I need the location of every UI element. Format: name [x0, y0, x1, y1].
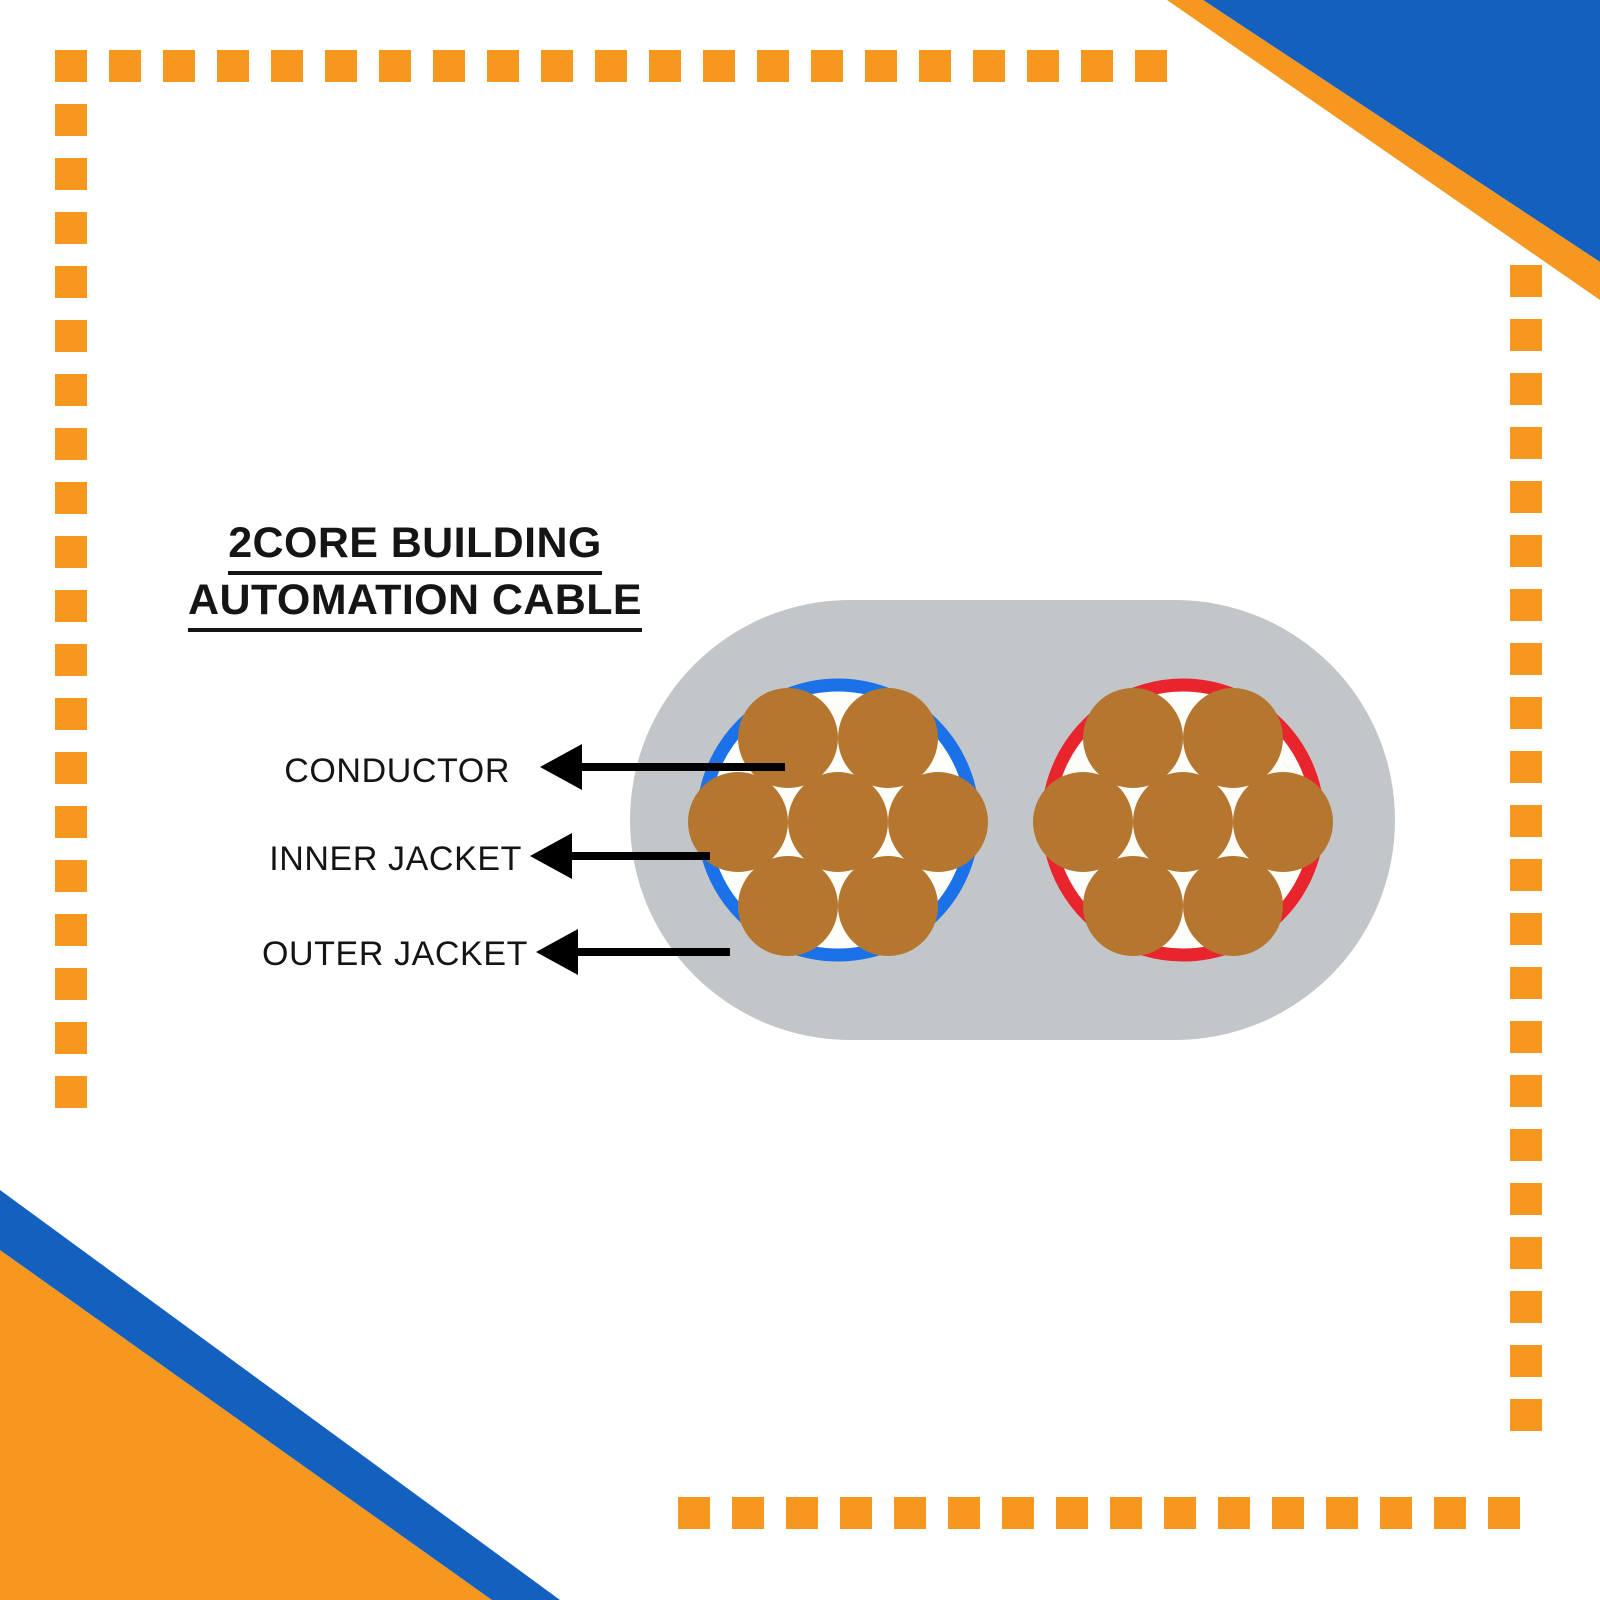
border-dash [1510, 1183, 1542, 1215]
border-dash [1027, 50, 1059, 82]
bottom-left-blue-stripe [0, 1190, 560, 1600]
border-dash [1510, 589, 1542, 621]
border-dash [1510, 481, 1542, 513]
border-dash [1510, 805, 1542, 837]
cable-cross-section-diagram [480, 560, 1440, 1080]
border-dash [1510, 1345, 1542, 1377]
border-dash [55, 644, 87, 676]
border-dash [325, 50, 357, 82]
border-dash [1002, 1497, 1034, 1529]
border-dash [1510, 373, 1542, 405]
border-dash [379, 50, 411, 82]
conductor-strand [1233, 772, 1333, 872]
border-dash [1510, 697, 1542, 729]
top-right-blue-triangle [1203, 0, 1600, 262]
border-dash [1135, 50, 1167, 82]
border-dash [163, 50, 195, 82]
conductor-strand [1083, 688, 1183, 788]
border-dash [55, 1076, 87, 1108]
border-dash [55, 374, 87, 406]
poster-canvas: 2CORE BUILDING AUTOMATION CABLE CONDUCTO… [0, 0, 1600, 1600]
conductor-strand [788, 772, 888, 872]
conductor-strand [1083, 856, 1183, 956]
border-dash [55, 914, 87, 946]
conductor-strand [888, 772, 988, 872]
conductor-strand [838, 688, 938, 788]
border-dash [894, 1497, 926, 1529]
border-dash [1110, 1497, 1142, 1529]
border-dash [1510, 535, 1542, 567]
border-dash [1510, 643, 1542, 675]
border-dash [271, 50, 303, 82]
border-dash [678, 1497, 710, 1529]
conductor-strand [1133, 772, 1233, 872]
border-dash [109, 50, 141, 82]
border-dash [55, 698, 87, 730]
border-dash [811, 50, 843, 82]
border-dash [786, 1497, 818, 1529]
border-dash [1326, 1497, 1358, 1529]
border-dash [1380, 1497, 1412, 1529]
border-dash [55, 860, 87, 892]
border-dash [948, 1497, 980, 1529]
conductor-strand [738, 856, 838, 956]
border-dash [1056, 1497, 1088, 1529]
border-dash [919, 50, 951, 82]
border-dash [757, 50, 789, 82]
border-dash [1510, 1237, 1542, 1269]
conductor-strand [1183, 688, 1283, 788]
border-dash [1081, 50, 1113, 82]
border-dash [55, 752, 87, 784]
bottom-left-orange-triangle [0, 1250, 492, 1600]
border-dash [1488, 1497, 1520, 1529]
border-dash [55, 158, 87, 190]
conductor-strand [1033, 772, 1133, 872]
label-conductor: CONDUCTOR [284, 752, 510, 791]
border-dash [1510, 913, 1542, 945]
border-dash [1218, 1497, 1250, 1529]
border-dash [840, 1497, 872, 1529]
border-dash [55, 536, 87, 568]
border-dash [1510, 859, 1542, 891]
border-dash [1434, 1497, 1466, 1529]
border-dash [1164, 1497, 1196, 1529]
border-dash [595, 50, 627, 82]
border-dash [1272, 1497, 1304, 1529]
conductor-strand [838, 856, 938, 956]
border-dash [649, 50, 681, 82]
conductor-strand [1183, 856, 1283, 956]
border-dash [1510, 751, 1542, 783]
border-dash [703, 50, 735, 82]
top-right-orange-stripe [1167, 0, 1600, 300]
border-dash [1510, 319, 1542, 351]
border-dash [487, 50, 519, 82]
border-dash [1510, 265, 1542, 297]
border-dash [217, 50, 249, 82]
border-dash [55, 590, 87, 622]
border-dash [1510, 967, 1542, 999]
border-dash [55, 212, 87, 244]
border-dash [55, 968, 87, 1000]
border-dash [865, 50, 897, 82]
border-dash [973, 50, 1005, 82]
border-dash [55, 266, 87, 298]
border-dash [55, 806, 87, 838]
conductor-strand [738, 688, 838, 788]
border-dash [1510, 1129, 1542, 1161]
border-dash [732, 1497, 764, 1529]
border-dash [1510, 427, 1542, 459]
border-dash [541, 50, 573, 82]
border-dash [55, 104, 87, 136]
border-dash [55, 428, 87, 460]
border-dash [1510, 1291, 1542, 1323]
border-dash [1510, 1021, 1542, 1053]
border-dash [55, 50, 87, 82]
border-dash [55, 320, 87, 352]
border-dash [433, 50, 465, 82]
border-dash [1510, 1075, 1542, 1107]
border-dash [55, 482, 87, 514]
border-dash [55, 1022, 87, 1054]
border-dash [1510, 1399, 1542, 1431]
